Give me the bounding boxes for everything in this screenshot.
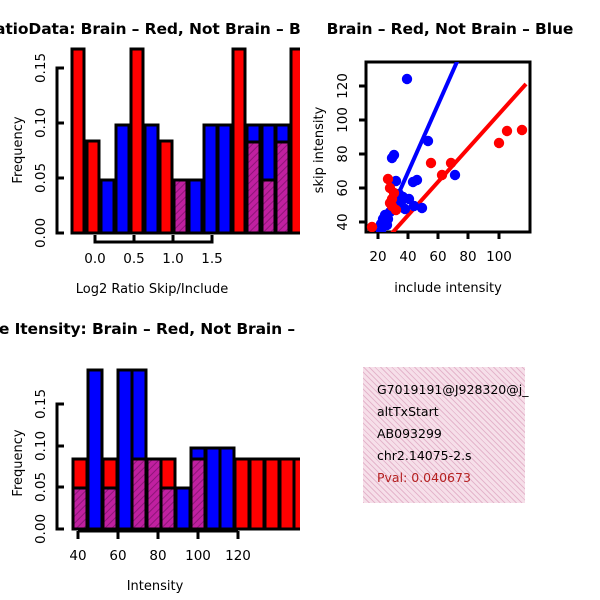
bar-red	[87, 141, 99, 233]
bar-blue	[118, 370, 132, 529]
intensity-histogram-bars	[73, 370, 300, 529]
scatter-y-axis: 40 60 80 100 120 skip intensity	[312, 73, 366, 230]
ratio-histogram-plot: 0.00 0.05 0.10 0.15 Frequency	[0, 0, 300, 300]
scatter-ytick-1: 60	[335, 179, 351, 196]
bar-blue	[218, 125, 231, 233]
scatter-ytick-0: 40	[335, 213, 351, 230]
ratio-xtick-2: 1.0	[162, 251, 183, 267]
info-line-id: G7019191@J928320@j_	[377, 379, 525, 401]
bar-red	[233, 49, 245, 233]
intensity-ytick-3: 0.15	[33, 389, 49, 419]
info-line-locus: chr2.14075-2.s	[377, 445, 525, 467]
scatter-xtick-3: 80	[459, 249, 476, 265]
ratio-histogram-panel: RatioData: Brain – Red, Not Brain – Blu …	[0, 0, 300, 300]
bar-blue	[101, 180, 114, 233]
intensity-xtick-3: 100	[185, 548, 211, 564]
scatter-ylabel: skip intensity	[312, 106, 327, 193]
bar-red	[265, 459, 279, 529]
intensity-ytick-0: 0.00	[33, 514, 49, 544]
ratio-ytick-1: 0.05	[33, 163, 49, 193]
info-line-pval: Pval: 0.040673	[377, 467, 525, 489]
blue-points	[376, 74, 460, 236]
bar-blue	[220, 448, 234, 529]
annotation-box: G7019191@J928320@j_ altTxStart AB093299 …	[363, 367, 525, 503]
intensity-ylabel: Frequency	[11, 429, 26, 496]
bar-overlap	[174, 180, 187, 233]
ratio-xtick-3: 1.5	[201, 251, 222, 267]
bar-blue	[116, 125, 129, 233]
intensity-histogram-plot: 0.00 0.05 0.10 0.15 Frequency	[0, 300, 300, 600]
bar-overlap	[247, 142, 260, 233]
info-line-event: altTxStart	[377, 401, 525, 423]
scatter-xlabel: include intensity	[394, 281, 502, 296]
intensity-ytick-2: 0.10	[33, 431, 49, 461]
intensity-xlabel: Intensity	[127, 579, 184, 594]
ratio-y-axis: 0.00 0.05 0.10 0.15 Frequency	[11, 53, 64, 248]
intensity-ytick-1: 0.05	[33, 472, 49, 502]
intensity-histogram-panel: ne Itensity: Brain – Red, Not Brain – B …	[0, 300, 300, 600]
bar-red	[160, 141, 172, 233]
intensity-xtick-4: 120	[225, 548, 251, 564]
bar-red	[250, 459, 264, 529]
intensity-xtick-2: 80	[149, 548, 166, 564]
scatter-panel: Brain – Red, Not Brain – Blue 40 60 80 1…	[300, 0, 600, 300]
bar-overlap	[262, 180, 275, 233]
info-panel: G7019191@J928320@j_ altTxStart AB093299 …	[300, 300, 600, 600]
scatter-xtick-1: 40	[399, 249, 416, 265]
scatter-ytick-4: 120	[335, 73, 351, 99]
bar-red	[131, 49, 143, 233]
bar-overlap	[132, 459, 146, 529]
intensity-x-axis: 40 60 80 100 120 Intensity	[69, 531, 250, 594]
scatter-ytick-3: 100	[335, 107, 351, 133]
ratio-ytick-3: 0.15	[33, 53, 49, 83]
intensity-histogram-title: ne Itensity: Brain – Red, Not Brain – B	[0, 320, 300, 338]
bar-red	[235, 459, 249, 529]
bar-overlap	[191, 459, 205, 529]
scatter-xtick-4: 100	[486, 249, 512, 265]
ratio-x-axis: 0.0 0.5 1.0 1.5 Log2 Ratio Skip/Include	[76, 235, 228, 297]
bar-red	[72, 49, 84, 233]
scatter-data	[367, 55, 527, 242]
scatter-xtick-0: 20	[369, 249, 386, 265]
intensity-xtick-1: 60	[109, 548, 126, 564]
ratio-ylabel: Frequency	[11, 116, 26, 183]
bar-overlap	[147, 459, 161, 529]
ratio-histogram-title: RatioData: Brain – Red, Not Brain – Blu	[0, 20, 300, 38]
bar-red	[280, 459, 294, 529]
intensity-y-axis: 0.00 0.05 0.10 0.15 Frequency	[11, 389, 64, 544]
ratio-ytick-2: 0.10	[33, 108, 49, 138]
scatter-x-axis: 20 40 60 80 100 include intensity	[369, 232, 511, 296]
ratio-histogram-bars	[72, 49, 300, 233]
ratio-xtick-1: 0.5	[123, 251, 144, 267]
scatter-ytick-2: 80	[335, 145, 351, 162]
info-line-accession: AB093299	[377, 423, 525, 445]
bar-overlap	[103, 488, 117, 529]
bar-red	[291, 49, 300, 233]
bar-overlap	[73, 488, 87, 529]
ratio-ytick-0: 0.00	[33, 218, 49, 248]
bar-blue	[189, 180, 202, 233]
bar-blue	[204, 125, 217, 233]
ratio-xlabel: Log2 Ratio Skip/Include	[76, 282, 228, 297]
intensity-xtick-0: 40	[69, 548, 86, 564]
bar-overlap	[161, 488, 175, 529]
bar-blue	[88, 370, 102, 529]
ratio-xtick-0: 0.0	[84, 251, 105, 267]
bar-blue	[145, 125, 158, 233]
bar-blue	[176, 488, 190, 529]
scatter-title: Brain – Red, Not Brain – Blue	[300, 20, 600, 38]
bar-overlap	[276, 142, 289, 233]
scatter-xtick-2: 60	[429, 249, 446, 265]
bar-blue	[206, 448, 220, 529]
scatter-plot: 40 60 80 100 120 skip intensity 20 40 60…	[300, 0, 600, 300]
